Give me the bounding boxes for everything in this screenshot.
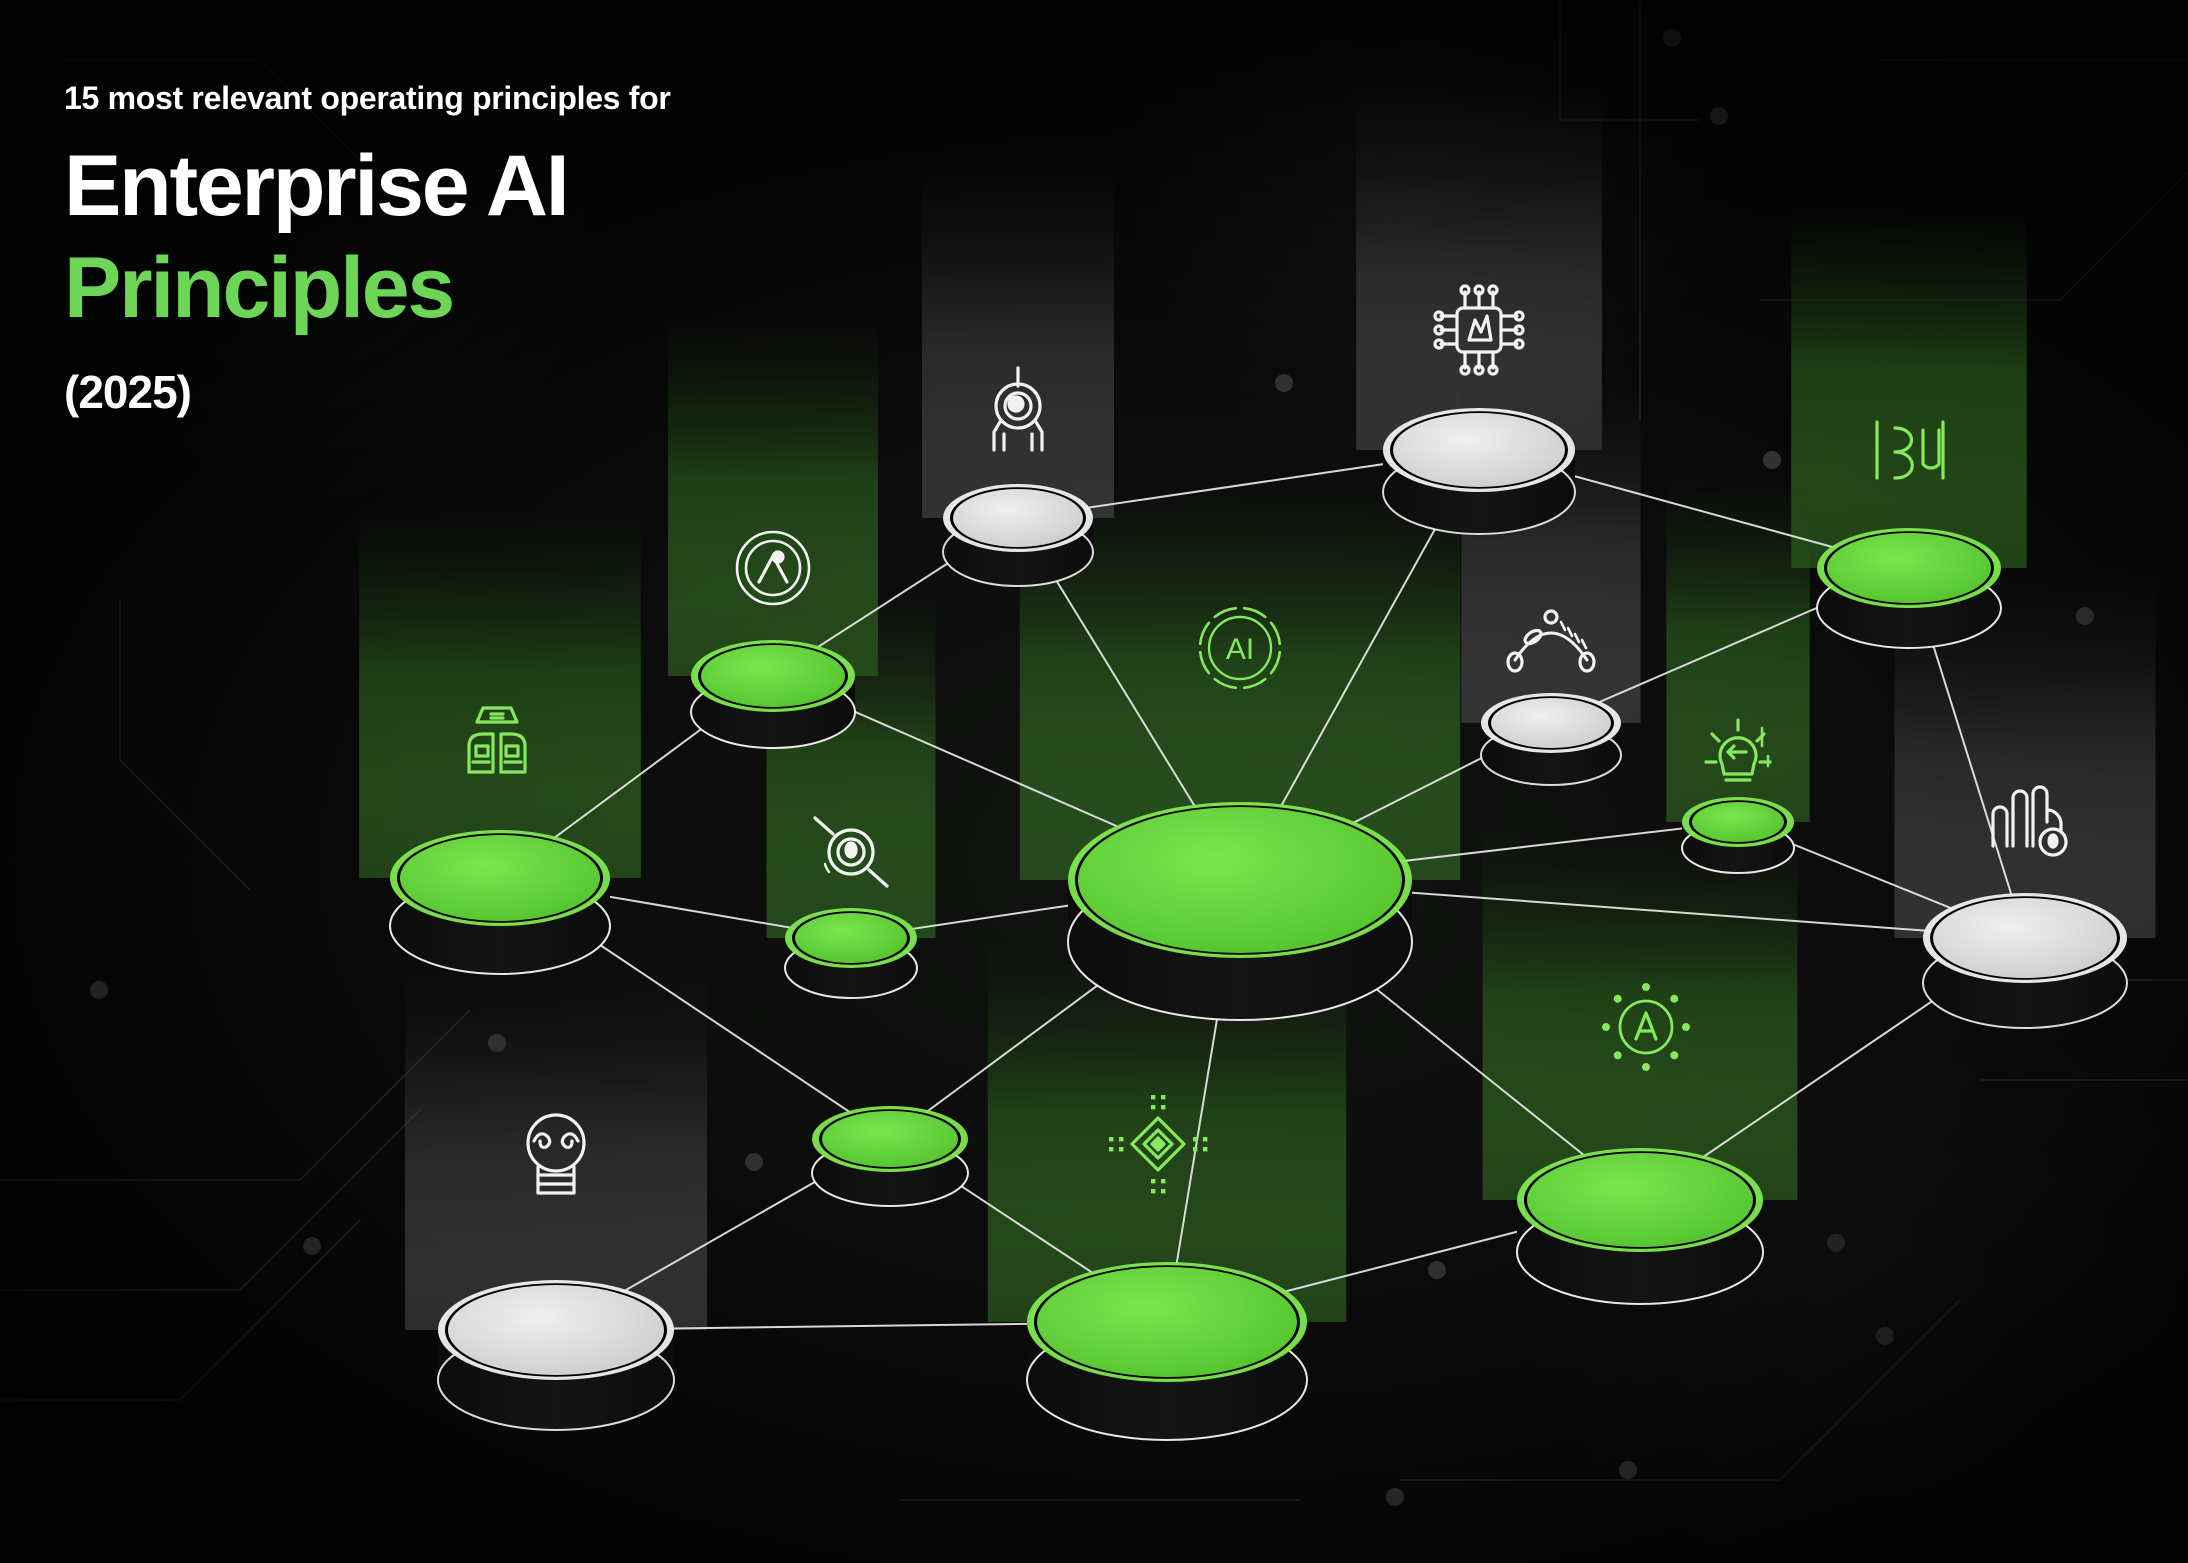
node-top-face (1393, 413, 1565, 487)
node-top-face (1037, 1267, 1297, 1377)
title-block: 15 most relevant operating principles fo… (64, 80, 671, 419)
search-node[interactable] (745, 868, 957, 1038)
idea-node[interactable] (1642, 757, 1834, 913)
node-top-face (1933, 898, 2117, 978)
curve-node[interactable] (1441, 653, 1661, 825)
node-top-face (400, 835, 600, 921)
infographic-canvas: AI 15 most relevant operating principles… (0, 0, 2188, 1563)
robot-node[interactable] (903, 444, 1133, 626)
node-top-face (1527, 1153, 1753, 1247)
title-kicker: 15 most relevant operating principles fo… (64, 80, 671, 117)
node-top-face (1078, 807, 1402, 953)
brain-node[interactable] (398, 1240, 714, 1470)
node-top-face (701, 645, 845, 707)
node-top-face (1491, 698, 1611, 748)
node-top-face (448, 1285, 664, 1375)
chip-node[interactable] (1343, 368, 1615, 574)
node-top-face (1692, 802, 1784, 842)
node-top-face (953, 489, 1083, 547)
small-green-node[interactable] (772, 1066, 1008, 1246)
central-ai-node[interactable] (1028, 762, 1452, 1060)
analytics-node[interactable] (1883, 853, 2167, 1068)
node-top-face (822, 1111, 958, 1167)
node-top-face (1827, 533, 1991, 603)
title-year: (2025) (64, 365, 671, 419)
node-top-face (795, 913, 907, 963)
page-title: Enterprise AI (64, 143, 671, 229)
page-title-accent: Principles (64, 245, 671, 331)
org-chart-node[interactable] (350, 790, 650, 1014)
waveform-node[interactable] (1777, 488, 2041, 688)
agent-node[interactable] (1477, 1108, 1803, 1344)
diamond-node[interactable] (987, 1222, 1347, 1480)
compass-node[interactable] (651, 600, 895, 788)
